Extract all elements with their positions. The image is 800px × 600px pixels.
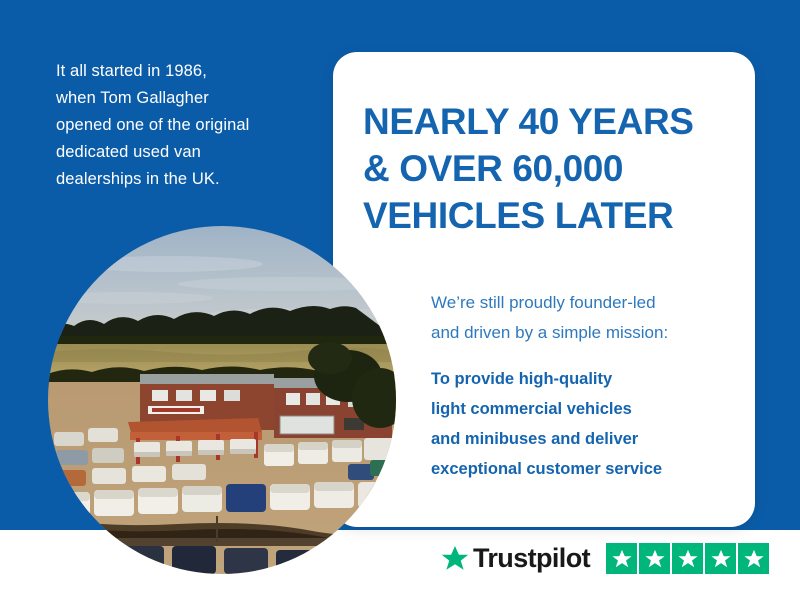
trustpilot-wordmark: Trustpilot xyxy=(473,543,590,574)
trustpilot-rating[interactable]: Trustpilot xyxy=(440,543,769,574)
mission-statement: To provide high-quality light commercial… xyxy=(431,364,741,484)
mission-line: To provide high-quality xyxy=(431,364,741,394)
page-title: NEARLY 40 YEARS & OVER 60,000 VEHICLES L… xyxy=(363,98,743,239)
intro-line: when Tom Gallagher xyxy=(56,85,306,112)
subtitle-line: We’re still proudly founder-led xyxy=(431,288,741,318)
intro-line: dedicated used van xyxy=(56,139,306,166)
headline-line: VEHICLES LATER xyxy=(363,192,743,239)
intro-line: dealerships in the UK. xyxy=(56,166,306,193)
intro-line: It all started in 1986, xyxy=(56,58,306,85)
trustpilot-logo-star-icon xyxy=(440,544,470,574)
mission-line: exceptional customer service xyxy=(431,454,741,484)
rating-star-icon xyxy=(738,543,769,574)
rating-star-icon xyxy=(705,543,736,574)
promo-banner: It all started in 1986, when Tom Gallagh… xyxy=(0,0,800,600)
intro-line: opened one of the original xyxy=(56,112,306,139)
dealership-photo xyxy=(48,226,396,574)
dealership-photo-image xyxy=(48,226,396,574)
rating-star-icon xyxy=(639,543,670,574)
headline-line: NEARLY 40 YEARS xyxy=(363,98,743,145)
headline-line: & OVER 60,000 xyxy=(363,145,743,192)
intro-paragraph: It all started in 1986, when Tom Gallagh… xyxy=(56,58,306,193)
mission-line: and minibuses and deliver xyxy=(431,424,741,454)
subtitle-text: We’re still proudly founder-led and driv… xyxy=(431,288,741,348)
rating-star-icon xyxy=(672,543,703,574)
trustpilot-star-rating xyxy=(606,543,769,574)
mission-line: light commercial vehicles xyxy=(431,394,741,424)
subtitle-line: and driven by a simple mission: xyxy=(431,318,741,348)
milestone-card: NEARLY 40 YEARS & OVER 60,000 VEHICLES L… xyxy=(333,52,755,527)
rating-star-icon xyxy=(606,543,637,574)
